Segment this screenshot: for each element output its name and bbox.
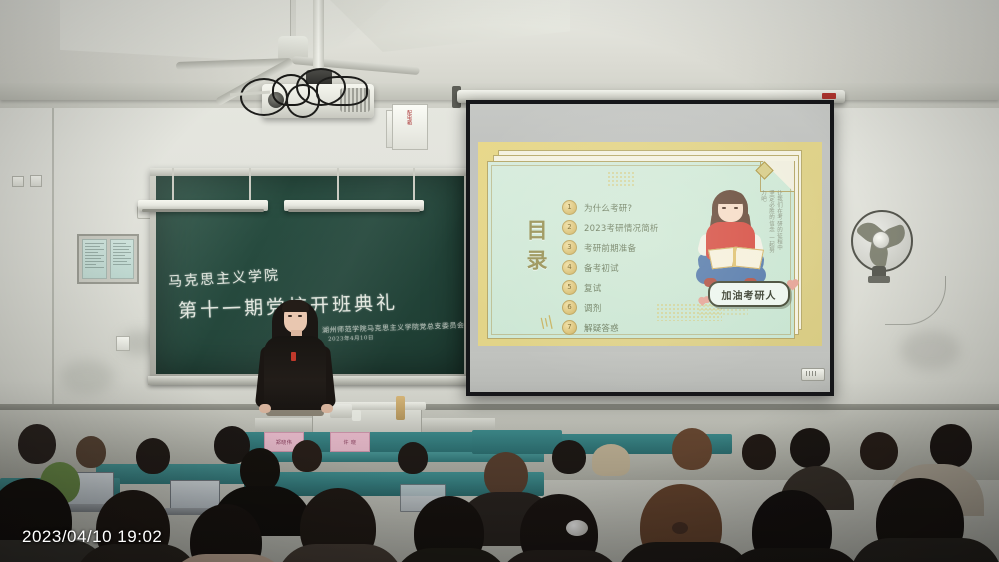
audience-head <box>742 434 776 470</box>
audience-shoulder-foreground <box>724 548 864 562</box>
audience-shoulder-foreground <box>392 548 510 562</box>
lamp-rod <box>249 168 251 200</box>
notice-line <box>113 243 127 244</box>
notice-line <box>113 258 132 259</box>
lamp-rod <box>413 168 415 200</box>
wall-fan-mount <box>868 276 890 283</box>
speaker-torso <box>264 336 326 410</box>
notice-line <box>85 252 98 253</box>
projector-mount-pole <box>313 0 324 78</box>
wall-stain-2 <box>60 360 114 394</box>
notice-line <box>85 255 104 256</box>
notice-line <box>113 264 132 265</box>
audience-shoulder-foreground <box>276 544 404 562</box>
toc-number: 1 <box>562 200 577 215</box>
audience-shoulder-foreground <box>850 538 999 562</box>
illustration-eye-right <box>734 207 738 209</box>
toc-item-6[interactable]: 6 调剂 <box>562 300 601 315</box>
notice-line <box>85 258 101 259</box>
slide-vertical-slogan: 让我们在考研的征程中 坚定必胜的信念 一起努力吧 <box>759 190 783 256</box>
toc-number: 2 <box>562 220 577 235</box>
lamp-rod <box>337 168 339 200</box>
notice-line <box>113 261 128 262</box>
toc-number: 4 <box>562 260 577 275</box>
audience-head <box>552 440 586 474</box>
speaker-eye-left <box>288 315 292 317</box>
blackboard-top-rail <box>150 168 470 176</box>
hair-tie <box>672 522 688 534</box>
toc-label: 调剂 <box>584 302 601 314</box>
notice-pane-left <box>82 239 107 279</box>
audience-head <box>76 436 106 468</box>
speaker-eye-right <box>298 315 302 317</box>
notice-line <box>85 249 104 250</box>
name-placard-label: 郑晓伟 <box>276 439 293 446</box>
notice-line <box>85 243 104 244</box>
slide-cheer-badge-label: 加油考研人 <box>722 287 777 302</box>
slide-title-mulu: 目录 <box>524 219 548 279</box>
projector-cable <box>286 84 320 118</box>
notice-line <box>85 264 96 265</box>
audience-head <box>930 424 972 468</box>
wall-fan-hub <box>872 231 890 249</box>
notice-line <box>113 252 132 253</box>
blackboard-chalk-date: 2023年4月10日 <box>328 333 374 343</box>
notice-line <box>85 267 104 268</box>
toc-item-1[interactable]: 1 为什么考研? <box>562 200 632 215</box>
blackboard-lamp-tube <box>142 209 264 212</box>
toc-item-5[interactable]: 5 复试 <box>562 280 601 295</box>
toc-label: 2023考研情况简析 <box>584 222 659 234</box>
wall-seam-left <box>52 108 54 408</box>
photo-timestamp: 2023/04/10 19:02 <box>22 527 162 547</box>
slide-dot-grid-top <box>607 171 635 187</box>
wall-switch-left[interactable] <box>12 176 24 187</box>
audience-head <box>398 442 428 474</box>
hair-clip <box>566 520 588 536</box>
audience-head <box>18 424 56 464</box>
audience-head <box>292 440 322 472</box>
speaker-badge <box>291 352 296 361</box>
audience-head <box>136 438 170 474</box>
toc-item-3[interactable]: 3 考研前期准备 <box>562 240 636 255</box>
water-bottle <box>396 396 405 420</box>
toc-label: 考研前期准备 <box>584 242 636 254</box>
slide-cheer-badge: 加油考研人 <box>708 281 790 307</box>
toc-label: 备考初试 <box>584 262 619 274</box>
toc-label: 复试 <box>584 282 601 294</box>
audience-head <box>672 428 712 470</box>
illustration-book-spine <box>733 248 736 267</box>
speaker-hand-right <box>321 404 333 413</box>
illustration-fringe <box>716 192 745 204</box>
ceiling-fan-rod <box>290 0 296 40</box>
desk-equipment <box>330 404 352 418</box>
toc-item-4[interactable]: 4 备考初试 <box>562 260 619 275</box>
toc-label: 解疑答惑 <box>584 322 619 334</box>
audience-shoulder-foreground <box>496 550 624 562</box>
toc-number: 7 <box>562 320 577 335</box>
audience-head <box>860 432 898 470</box>
wall-outlet-left[interactable] <box>30 175 42 187</box>
speaker-fringe <box>282 300 309 312</box>
name-placard-label: 许 晓 <box>343 439 356 446</box>
notice-board <box>77 234 139 284</box>
lamp-rod <box>172 168 174 200</box>
audience-head-with-cap <box>592 444 630 476</box>
screen-brand-tag <box>822 93 836 99</box>
notice-line <box>113 255 125 256</box>
name-placard-2: 许 晓 <box>330 432 370 452</box>
classroom-desk <box>472 430 562 454</box>
toc-item-7[interactable]: 7 解疑答惑 <box>562 320 619 335</box>
wall-stain-3 <box>900 330 960 370</box>
blackboard-lamp-tube <box>288 209 420 212</box>
notice-line <box>113 246 132 247</box>
toc-number: 5 <box>562 280 577 295</box>
toc-label: 为什么考研? <box>584 202 632 214</box>
screen-control-dots <box>806 371 818 376</box>
notice-pane-right <box>110 239 135 279</box>
notice-line <box>113 249 129 250</box>
toc-item-2[interactable]: 2 2023考研情况简析 <box>562 220 659 235</box>
toc-number: 6 <box>562 300 577 315</box>
illustration-eye-left <box>722 207 726 209</box>
audience-head <box>790 428 830 468</box>
projector-cable <box>240 78 288 116</box>
speaker-hand-left <box>259 404 271 413</box>
notice-line <box>85 246 100 247</box>
toc-number: 3 <box>562 240 577 255</box>
control-box-label: 配电箱 <box>404 110 413 142</box>
notice-line <box>85 261 104 262</box>
projection-screen-lower <box>470 352 830 392</box>
projector-cable <box>316 76 368 106</box>
audience-shoulder-foreground <box>616 542 752 562</box>
classroom-photo: 配电箱 马克思主义学院 <box>0 0 999 562</box>
wall-switch-mid[interactable] <box>116 336 130 351</box>
